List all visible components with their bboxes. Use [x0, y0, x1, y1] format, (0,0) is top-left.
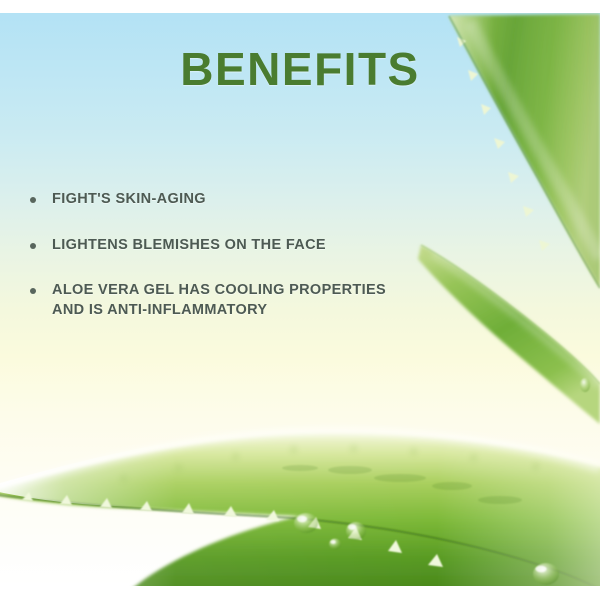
bullet-dot-icon	[30, 197, 36, 203]
bullet-dot-icon	[30, 243, 36, 249]
list-item-label: ALOE VERA GEL HAS COOLING PROPERTIES AND…	[52, 281, 386, 320]
top-white-band	[0, 0, 600, 13]
benefits-list: FIGHT'S SKIN-AGING LIGHTENS BLEMISHES ON…	[30, 190, 450, 320]
page-title: BENEFITS	[0, 46, 600, 92]
poster-canvas: BENEFITS FIGHT'S SKIN-AGING LIGHTENS BLE…	[0, 0, 600, 600]
bottom-white-band	[0, 586, 600, 600]
bullet-dot-icon	[30, 288, 36, 294]
list-item-label: FIGHT'S SKIN-AGING	[52, 190, 206, 210]
list-item: FIGHT'S SKIN-AGING	[30, 190, 450, 210]
list-item: ALOE VERA GEL HAS COOLING PROPERTIES AND…	[30, 281, 450, 320]
list-item-label: LIGHTENS BLEMISHES ON THE FACE	[52, 236, 326, 256]
list-item: LIGHTENS BLEMISHES ON THE FACE	[30, 236, 450, 256]
